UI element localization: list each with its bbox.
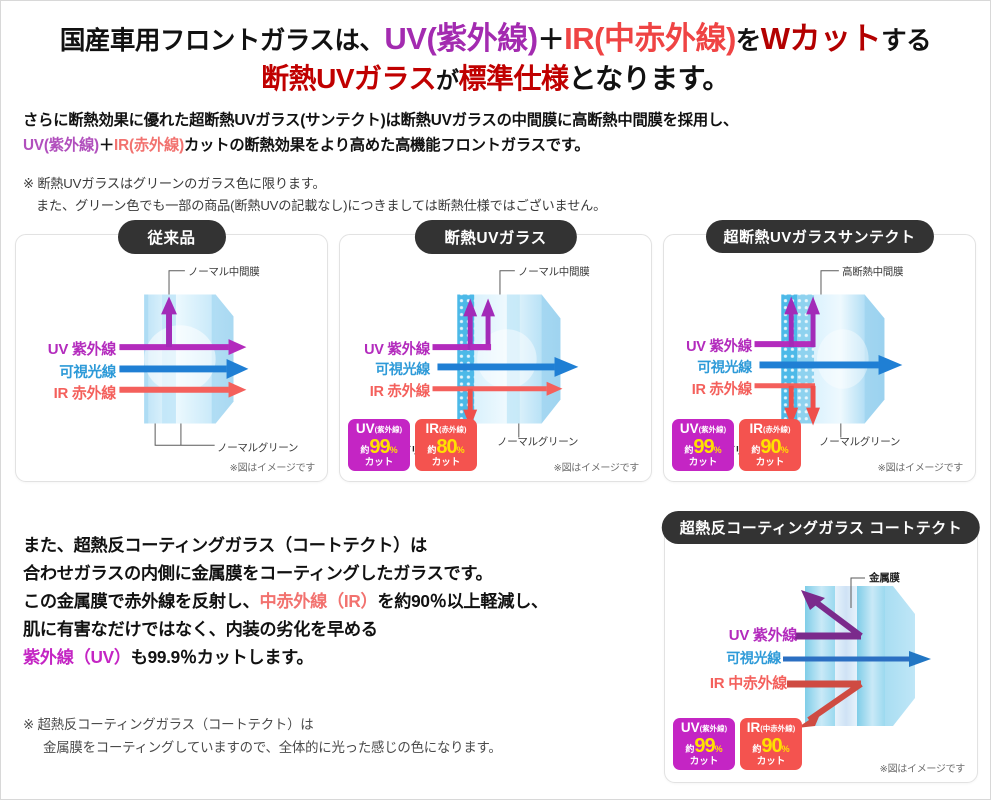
badge-ir-value-uvcut: 約80% bbox=[415, 437, 477, 457]
headline-text-a: 国産車用フロントガラスは、 bbox=[60, 27, 385, 55]
card-conventional: 従来品 bbox=[15, 234, 328, 482]
coattect-line-3: この金属膜で赤外線を反射し、中赤外線（IR）を約90％以上軽減し、 bbox=[23, 587, 653, 615]
lead-rest: カットの断熱効果をより高めた高機能フロントガラスです。 bbox=[184, 137, 589, 154]
badge-ir-uvcut: IR(赤外線) 約80% カット bbox=[415, 419, 477, 471]
badge-uv-title-coattect: UV(紫外線) bbox=[673, 721, 735, 735]
coattect-note-line-1: ※ 超熱反コーティングガラス（コートテクト）は bbox=[23, 713, 653, 736]
badge-uv-uvcut: UV(紫外線) 約99% カット bbox=[348, 419, 410, 471]
coattect-line-1: また、超熱反コーティングガラス（コートテクト）は bbox=[23, 531, 653, 559]
headline-ir: IR(中赤外線) bbox=[564, 21, 736, 56]
badge-ir-coattect: IR(中赤外線) 約90% カット bbox=[740, 718, 802, 770]
badge-ir-cut-coattect: カット bbox=[740, 757, 802, 767]
lead-plus: ＋ bbox=[99, 137, 114, 154]
badge-ir-title-coattect: IR(中赤外線) bbox=[740, 721, 802, 735]
card-coattect: 超熱反コーティングガラス コートテクト bbox=[664, 525, 978, 783]
note-line-2: また、グリーン色でも一部の商品(断熱UVの記載なし)につきましては断熱仕様ではご… bbox=[23, 195, 968, 218]
label-ir-coattect: IR 中赤外線 bbox=[691, 672, 787, 693]
badge-uv-cut-uvcut: カット bbox=[348, 458, 410, 468]
coattect-line3-b: を約90％以上軽減し、 bbox=[377, 591, 548, 611]
label-ir-uvcut: IR 赤外線 bbox=[346, 380, 430, 401]
label-visible-coattect: 可視光線 bbox=[705, 648, 781, 668]
badge-uv-title-uvcut: UV(紫外線) bbox=[348, 422, 410, 436]
label-uv-coattect: UV 紫外線 bbox=[705, 624, 797, 645]
leader-metalfilm-coattect: 金属膜 bbox=[869, 570, 900, 585]
badge-uv-cut-suntect: カット bbox=[672, 458, 734, 468]
lead-line-1: さらに断熱効果に優れた超断熱UVガラス(サンテクト)は断熱UVガラスの中間膜に高… bbox=[23, 109, 968, 134]
headline-standard: 標準仕様 bbox=[458, 63, 568, 94]
badge-group-uvcut: UV(紫外線) 約99% カット IR(赤外線) 約80% カット bbox=[348, 419, 477, 471]
label-visible-suntect: 可視光線 bbox=[668, 357, 752, 377]
badge-uv-value-suntect: 約99% bbox=[672, 437, 734, 457]
lead-ir: IR(赤外線) bbox=[114, 137, 184, 154]
leader-interlayer-conventional: ノーマル中間膜 bbox=[188, 264, 259, 279]
coattect-note: ※ 超熱反コーティングガラス（コートテクト）は 金属膜をコーティングしていますの… bbox=[23, 713, 653, 760]
badge-ir-value-suntect: 約90% bbox=[739, 437, 801, 457]
image-note-uvcut: ※図はイメージです bbox=[554, 459, 639, 474]
headline-wcut: Wカット bbox=[761, 21, 881, 56]
lead-uv: UV(紫外線) bbox=[23, 137, 99, 154]
coattect-line-4: 肌に有害なだけではなく、内装の劣化を早める bbox=[23, 615, 653, 643]
headline-ga: が bbox=[436, 67, 459, 93]
leader-normalgreen-suntect: ノーマルグリーン bbox=[819, 434, 900, 449]
note-line-1: ※ 断熱UVガラスはグリーンのガラス色に限ります。 bbox=[23, 173, 968, 196]
infographic-page: 国産車用フロントガラスは、UV(紫外線)＋IR(中赤外線)をWカットする 断熱U… bbox=[0, 0, 991, 800]
badge-ir-value-coattect: 約90% bbox=[740, 736, 802, 756]
badge-uv-value-uvcut: 約99% bbox=[348, 437, 410, 457]
coattect-line5-b: も99.9％カットします。 bbox=[131, 647, 314, 667]
badge-ir-suntect: IR(赤外線) 約90% カット bbox=[739, 419, 801, 471]
badge-ir-cut-suntect: カット bbox=[739, 458, 801, 468]
headline-product: 断熱UVガラス bbox=[261, 63, 436, 94]
badge-group-coattect: UV(紫外線) 約99% カット IR(中赤外線) 約90% カット bbox=[673, 718, 802, 770]
headline-line-2: 断熱UVガラスが標準仕様となります。 bbox=[15, 61, 976, 97]
coattect-note-line-2: 金属膜をコーティングしていますので、全体的に光った感じの色になります。 bbox=[23, 736, 653, 759]
badge-ir-title-uvcut: IR(赤外線) bbox=[415, 422, 477, 436]
label-uv-conventional: UV 紫外線 bbox=[30, 338, 116, 359]
badge-ir-cut-uvcut: カット bbox=[415, 458, 477, 468]
headline-text-c: する bbox=[881, 27, 931, 55]
coattect-uv-highlight: 紫外線（UV） bbox=[23, 647, 131, 667]
leader-green-conventional: ノーマルグリーン bbox=[217, 440, 298, 455]
leader-normalgreen-uvcut: ノーマルグリーン bbox=[497, 434, 578, 449]
disclaimer-notes: ※ 断熱UVガラスはグリーンのガラス色に限ります。 また、グリーン色でも一部の商… bbox=[23, 173, 968, 218]
comparison-cards: 従来品 bbox=[15, 234, 976, 482]
leader-interlayer-suntect: 高断熱中間膜 bbox=[842, 264, 903, 279]
card-suntect: 超断熱UVガラスサンテクト bbox=[663, 234, 976, 482]
lead-paragraph: さらに断熱効果に優れた超断熱UVガラス(サンテクト)は断熱UVガラスの中間膜に高… bbox=[23, 109, 968, 159]
label-ir-conventional: IR 赤外線 bbox=[30, 382, 116, 403]
coattect-line-2: 合わせガラスの内側に金属膜をコーティングしたガラスです。 bbox=[23, 559, 653, 587]
badge-uv-value-coattect: 約99% bbox=[673, 736, 735, 756]
image-note-suntect: ※図はイメージです bbox=[878, 459, 963, 474]
label-ir-suntect: IR 赤外線 bbox=[668, 378, 752, 399]
label-visible-uvcut: 可視光線 bbox=[346, 359, 430, 379]
badge-uv-cut-coattect: カット bbox=[673, 757, 735, 767]
badge-uv-title-suntect: UV(紫外線) bbox=[672, 422, 734, 436]
image-note-conventional: ※図はイメージです bbox=[230, 459, 315, 474]
image-note-coattect: ※図はイメージです bbox=[880, 760, 965, 775]
badge-uv-suntect: UV(紫外線) 約99% カット bbox=[672, 419, 734, 471]
headline-plus: ＋ bbox=[538, 25, 565, 55]
badge-ir-title-suntect: IR(赤外線) bbox=[739, 422, 801, 436]
headline-text-b: を bbox=[736, 27, 761, 55]
headline-tail: となります。 bbox=[568, 63, 729, 94]
badge-group-suntect: UV(紫外線) 約99% カット IR(赤外線) 約90% カット bbox=[672, 419, 801, 471]
label-visible-conventional: 可視光線 bbox=[30, 361, 116, 382]
lead-line-2: UV(紫外線)＋IR(赤外線)カットの断熱効果をより高めた高機能フロントガラスで… bbox=[23, 134, 968, 159]
coattect-line3-a: この金属膜で赤外線を反射し、 bbox=[23, 591, 259, 611]
headline-line-1: 国産車用フロントガラスは、UV(紫外線)＋IR(中赤外線)をWカットする bbox=[15, 19, 976, 59]
badge-uv-coattect: UV(紫外線) 約99% カット bbox=[673, 718, 735, 770]
coattect-ir-highlight: 中赤外線（IR） bbox=[259, 591, 377, 611]
coattect-line-5: 紫外線（UV）も99.9％カットします。 bbox=[23, 643, 653, 671]
leader-interlayer-uvcut: ノーマル中間膜 bbox=[518, 264, 589, 279]
coattect-description: また、超熱反コーティングガラス（コートテクト）は 合わせガラスの内側に金属膜をコ… bbox=[23, 531, 653, 671]
card-uvcut: 断熱UVガラス bbox=[339, 234, 652, 482]
page-header: 国産車用フロントガラスは、UV(紫外線)＋IR(中赤外線)をWカットする 断熱U… bbox=[1, 1, 990, 97]
label-uv-suntect: UV 紫外線 bbox=[668, 335, 752, 356]
headline-uv: UV(紫外線) bbox=[384, 21, 537, 56]
label-uv-uvcut: UV 紫外線 bbox=[346, 338, 430, 359]
